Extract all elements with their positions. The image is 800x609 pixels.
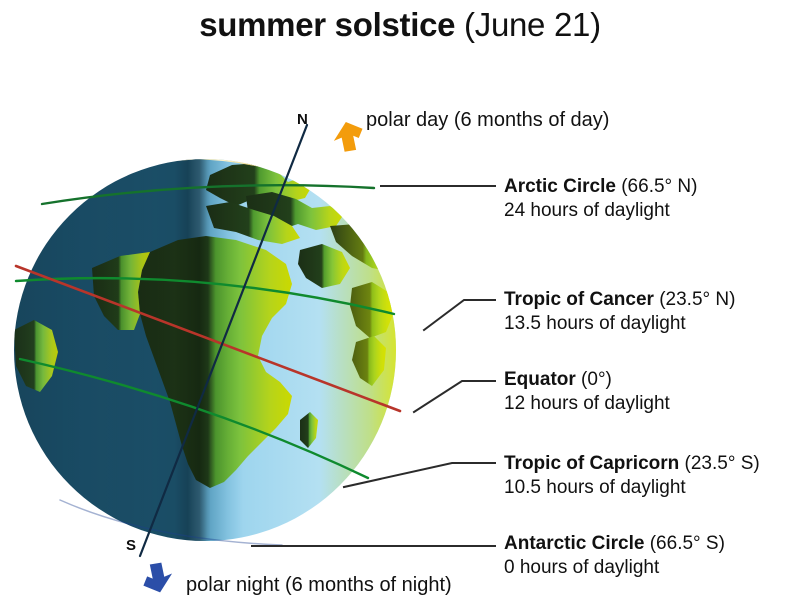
label-tropic-of-cancer: Tropic of Cancer (23.5° N) 13.5 hours of… bbox=[504, 288, 735, 336]
label-tropic-of-capricorn-name: Tropic of Capricorn bbox=[504, 453, 679, 474]
leader-line-cancer bbox=[424, 300, 495, 330]
label-antarctic-circle-coord: (66.5° S) bbox=[644, 533, 724, 554]
leader-line-capricorn bbox=[344, 463, 495, 487]
label-tropic-of-capricorn: Tropic of Capricorn (23.5° S) 10.5 hours… bbox=[504, 452, 760, 500]
label-antarctic-circle-daylight: 0 hours of daylight bbox=[504, 556, 725, 580]
label-tropic-of-cancer-name: Tropic of Cancer bbox=[504, 289, 654, 310]
polar-day-annotation: polar day (6 months of day) bbox=[366, 108, 609, 132]
label-tropic-of-cancer-coord: (23.5° N) bbox=[654, 289, 736, 310]
leader-line-equator bbox=[414, 381, 495, 412]
label-equator-name: Equator bbox=[504, 369, 576, 390]
label-arctic-circle-title: Arctic Circle (66.5° N) bbox=[504, 175, 697, 199]
label-equator-title: Equator (0°) bbox=[504, 368, 670, 392]
arrow-down-left-icon bbox=[332, 121, 365, 156]
label-equator-daylight: 12 hours of daylight bbox=[504, 392, 670, 416]
label-antarctic-circle-name: Antarctic Circle bbox=[504, 533, 644, 554]
label-antarctic-circle: Antarctic Circle (66.5° S) 0 hours of da… bbox=[504, 532, 725, 580]
arrow-up-right-icon bbox=[142, 559, 175, 594]
label-tropic-of-cancer-title: Tropic of Cancer (23.5° N) bbox=[504, 288, 735, 312]
label-tropic-of-capricorn-title: Tropic of Capricorn (23.5° S) bbox=[504, 452, 760, 476]
label-arctic-circle-daylight: 24 hours of daylight bbox=[504, 199, 697, 223]
polar-night-annotation: polar night (6 months of night) bbox=[186, 573, 452, 597]
north-pole-label: N bbox=[297, 112, 308, 127]
label-equator-coord: (0°) bbox=[576, 369, 612, 390]
label-equator: Equator (0°) 12 hours of daylight bbox=[504, 368, 670, 416]
label-arctic-circle-name: Arctic Circle bbox=[504, 176, 616, 197]
label-tropic-of-cancer-daylight: 13.5 hours of daylight bbox=[504, 312, 735, 336]
label-arctic-circle-coord: (66.5° N) bbox=[616, 176, 698, 197]
label-antarctic-circle-title: Antarctic Circle (66.5° S) bbox=[504, 532, 725, 556]
south-pole-label: S bbox=[126, 538, 136, 553]
diagram-canvas: summer solstice (June 21) bbox=[0, 0, 800, 609]
label-tropic-of-capricorn-coord: (23.5° S) bbox=[679, 453, 759, 474]
label-arctic-circle: Arctic Circle (66.5° N) 24 hours of dayl… bbox=[504, 175, 697, 223]
label-tropic-of-capricorn-daylight: 10.5 hours of daylight bbox=[504, 476, 760, 500]
globe-sphere bbox=[14, 159, 402, 541]
